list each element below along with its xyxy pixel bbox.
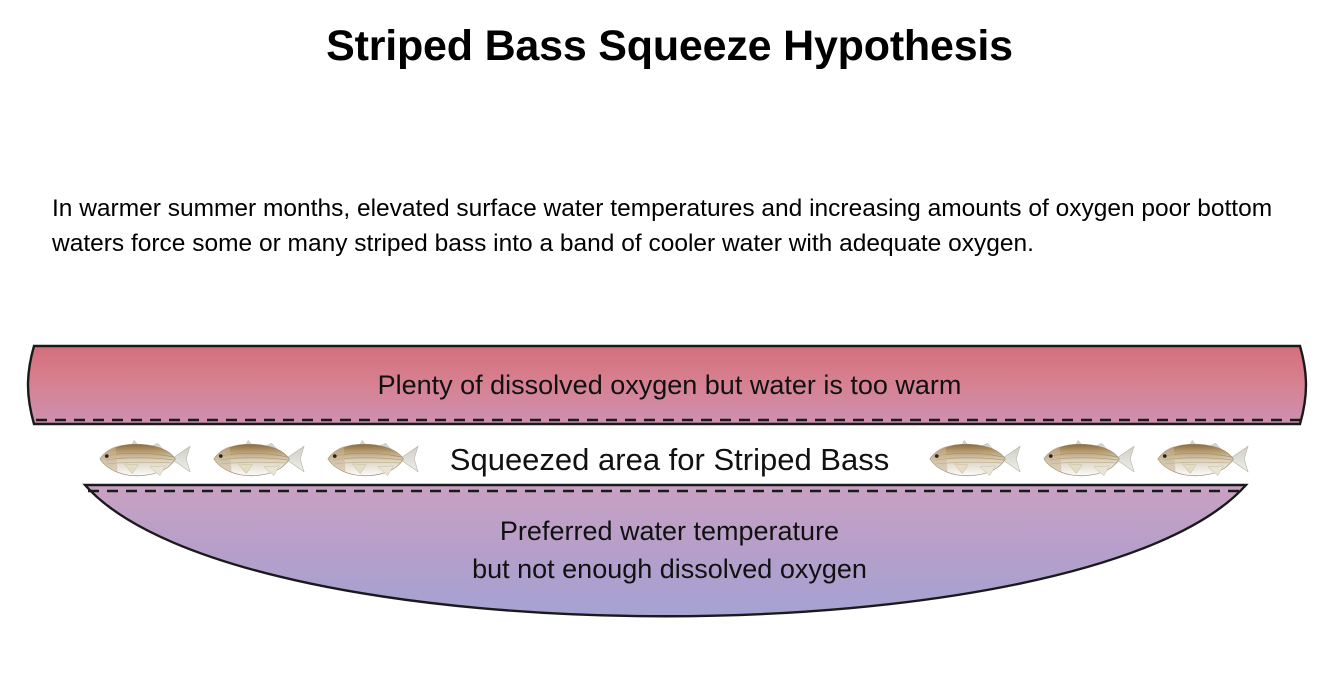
striped-bass-fish-icon [209, 436, 307, 482]
striped-bass-fish-icon [925, 436, 1023, 482]
striped-bass-fish-icon [1153, 436, 1251, 482]
warm-layer-label: Plenty of dissolved oxygen but water is … [0, 370, 1339, 401]
deep-layer-label-line2: but not enough dissolved oxygen [0, 550, 1339, 588]
striped-bass-fish-icon [95, 436, 193, 482]
deep-layer-label-line1: Preferred water temperature [0, 512, 1339, 550]
page-title: Striped Bass Squeeze Hypothesis [0, 22, 1339, 71]
striped-bass-fish-icon [323, 436, 421, 482]
intro-paragraph: In warmer summer months, elevated surfac… [52, 191, 1292, 262]
deep-layer-label: Preferred water temperature but not enou… [0, 512, 1339, 589]
striped-bass-squeeze-diagram: Plenty of dissolved oxygen but water is … [0, 330, 1339, 660]
fish-group-left [95, 435, 421, 483]
striped-bass-fish-icon [1039, 436, 1137, 482]
fish-group-right [925, 435, 1251, 483]
